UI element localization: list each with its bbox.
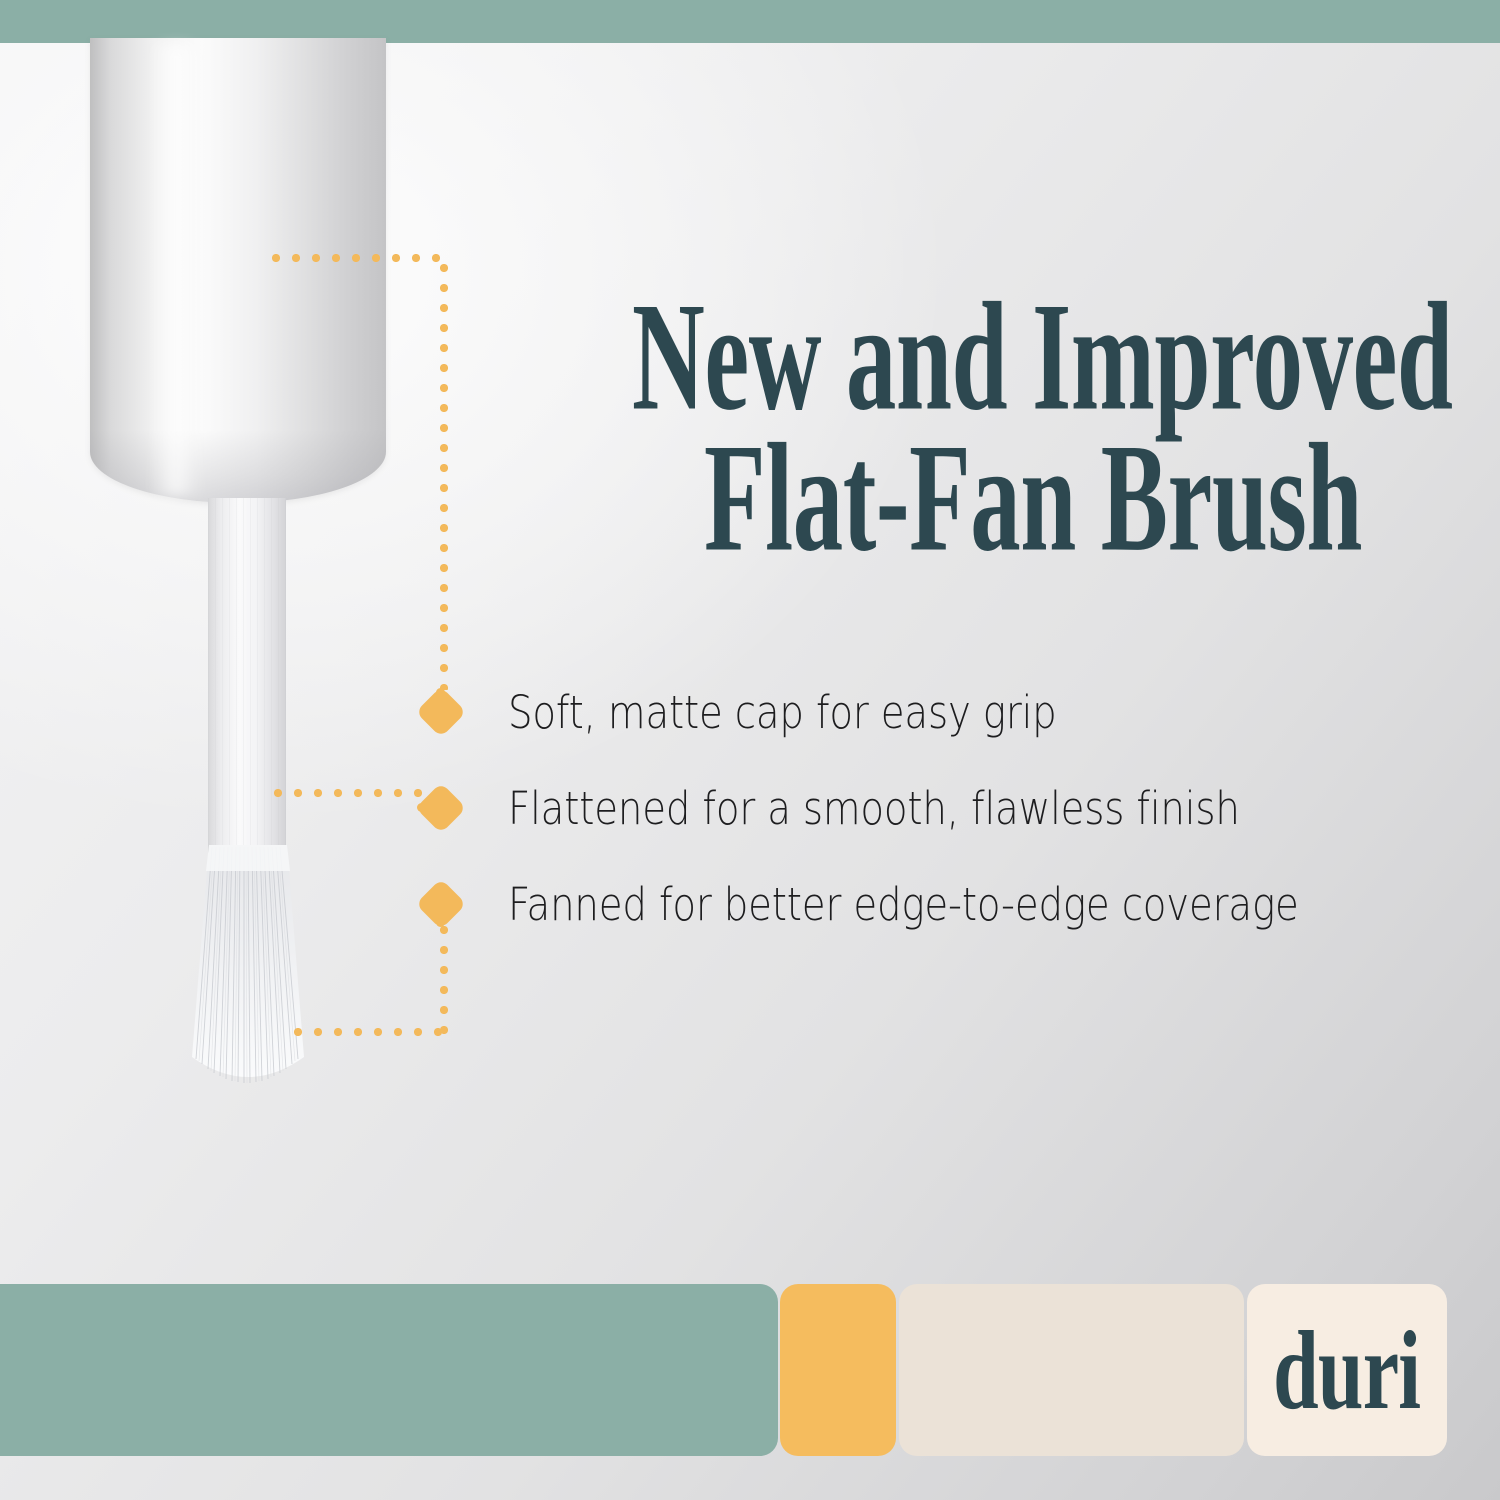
diamond-bullet-icon [418,785,464,831]
headline-line-2: Flat-Fan Brush [704,424,1254,574]
headline-line-1: New and Improved [632,283,1240,433]
diamond-connector-dot [436,918,445,927]
diamond-bullet-icon [418,689,464,735]
footer-sage-block [0,1284,778,1456]
feature-list: Soft, matte cap for easy grip Flattened … [418,664,1458,952]
diamond-connector-dot [436,688,445,697]
brush-stem-texture [208,498,286,853]
top-accent-bar [0,0,1500,43]
polish-bottle-cap-icon [90,38,386,503]
footer-beige-block [899,1284,1244,1456]
page-title: New and Improved Flat-Fan Brush [632,283,1392,545]
leader-line-cap-horizontal [266,254,448,262]
brand-logo-text: duri [1273,1306,1420,1435]
brand-logo: duri [1247,1284,1447,1456]
feature-label: Flattened for a smooth, flawless finish [508,782,1240,835]
cap-shadow [90,430,386,503]
diamond-connector-dot [417,803,426,812]
list-item: Fanned for better edge-to-edge coverage [418,856,1458,952]
footer-amber-block [780,1284,896,1456]
cap-highlight [150,44,202,496]
list-item: Flattened for a smooth, flawless finish [418,760,1458,856]
promo-canvas: New and Improved Flat-Fan Brush Soft, ma… [0,0,1500,1500]
diamond-bullet-icon [418,881,464,927]
fan-brush-bristles-icon [178,845,318,1095]
feature-label: Fanned for better edge-to-edge coverage [508,878,1299,931]
list-item: Soft, matte cap for easy grip [418,664,1458,760]
leader-line-cap-vertical [440,258,448,690]
leader-line-bristles-horizontal [288,1028,448,1036]
feature-label: Soft, matte cap for easy grip [508,686,1057,739]
brush-stem-icon [208,498,286,853]
